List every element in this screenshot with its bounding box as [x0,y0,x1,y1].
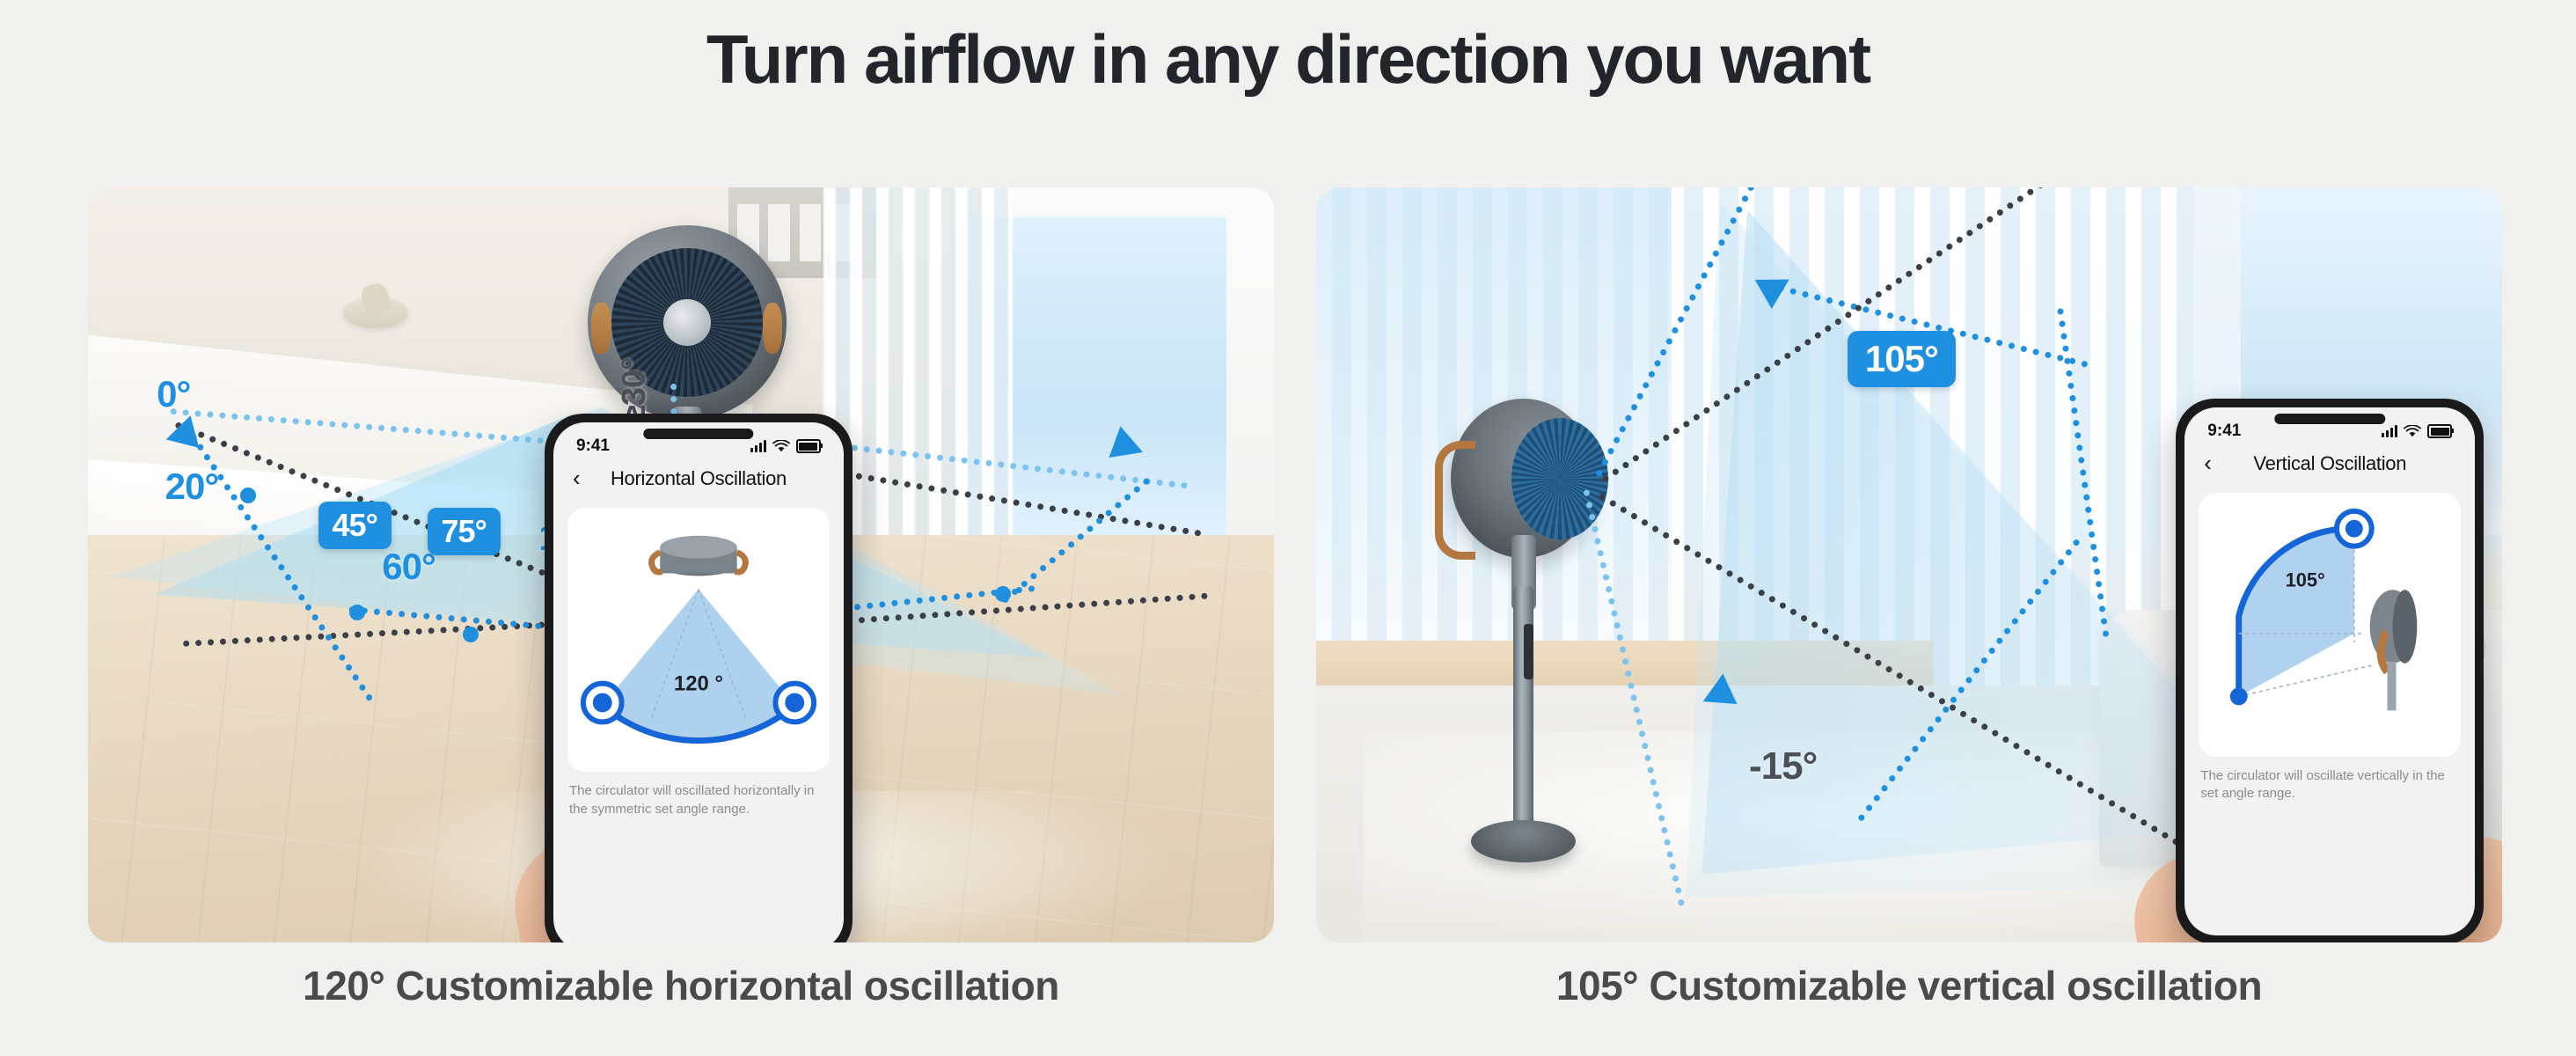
battery-icon [796,439,821,453]
angle-60-label: 60° [382,546,435,588]
diagram-angle-value: 120 ° [674,672,723,696]
angle-20-label: 20° [165,466,219,508]
status-time: 9:41 [2207,422,2241,441]
horizontal-oscillation-card: 120 ° [567,508,830,772]
signal-icon [2382,425,2397,437]
phone-notch [643,429,753,439]
wifi-icon [772,440,790,453]
horizontal-caption: 120° Customizable horizontal oscillation [88,962,1274,1009]
signal-icon [750,440,766,452]
vertical-oscillation-diagram[interactable]: 105° [2199,493,2461,757]
wifi-icon [2404,425,2421,438]
fan-display [1524,624,1533,680]
horizontal-oscillation-diagram[interactable]: 120 ° [567,508,830,772]
status-bar: 9:41 [553,422,844,458]
phone-vertical: 9:41 ‹ Vertical O [2176,399,2484,942]
status-time: 9:41 [576,436,610,456]
vertical-caption: 105° Customizable vertical oscillation [1316,962,2502,1009]
fan-vertical [1423,399,1624,867]
fan-pivot-right [763,303,783,354]
room-scene-vertical: 105° -15° 9:41 [1316,187,2502,942]
phone-navbar-vertical: ‹ Vertical Oscillation [2184,443,2475,488]
diagram-angle-value: 105° [2286,569,2325,591]
room-scene-horizontal: 0° 20° 45° 60° 75° 100° 120° ≥30° 9:41 [88,187,1274,942]
status-icons [2382,424,2452,438]
promo-page: Turn airflow in any direction you want [0,0,2576,1056]
lower-handle [2230,688,2248,706]
fan-pivot-left [591,303,611,354]
angle-75-badge: 75° [428,508,501,555]
vertical-help-text: The circulator will oscillate vertically… [2200,767,2459,803]
battery-icon [2427,424,2452,438]
angle-105-badge: 105° [1848,331,1956,387]
vertical-oscillation-card: 105° [2199,493,2461,757]
phone-screen-horizontal: 9:41 ‹ Horizontal [553,422,844,942]
status-bar: 9:41 [2184,407,2475,443]
phone-notch [2275,414,2385,424]
angle-neg15-label: -15° [1749,744,1817,788]
vertical-oscillation-panel: 105° -15° 9:41 [1316,187,2502,942]
status-icons [750,439,821,453]
phone-horizontal: 9:41 ‹ Horizontal [545,414,853,942]
phone-navbar-horizontal: ‹ Horizontal Oscillation [553,458,844,502]
sweep-dot-20 [240,488,256,503]
phone-page-title: Horizontal Oscillation [573,467,824,490]
horizontal-oscillation-panel: 0° 20° 45° 60° 75° 100° 120° ≥30° 9:41 [88,187,1274,942]
fan-hub [663,299,711,346]
phone-page-title: Vertical Oscillation [2204,452,2455,475]
page-title: Turn airflow in any direction you want [0,25,2576,93]
phone-screen-vertical: 9:41 ‹ Vertical O [2184,407,2475,935]
fan-pole [1513,586,1533,830]
horizontal-help-text: The circulator will oscillated horizonta… [569,782,828,818]
sweep-dot-a [349,605,365,620]
fan-handle [1435,441,1475,560]
angle-45-badge: 45° [318,502,392,549]
angle-0-label: 0° [157,373,190,415]
fan-base [1471,820,1576,862]
